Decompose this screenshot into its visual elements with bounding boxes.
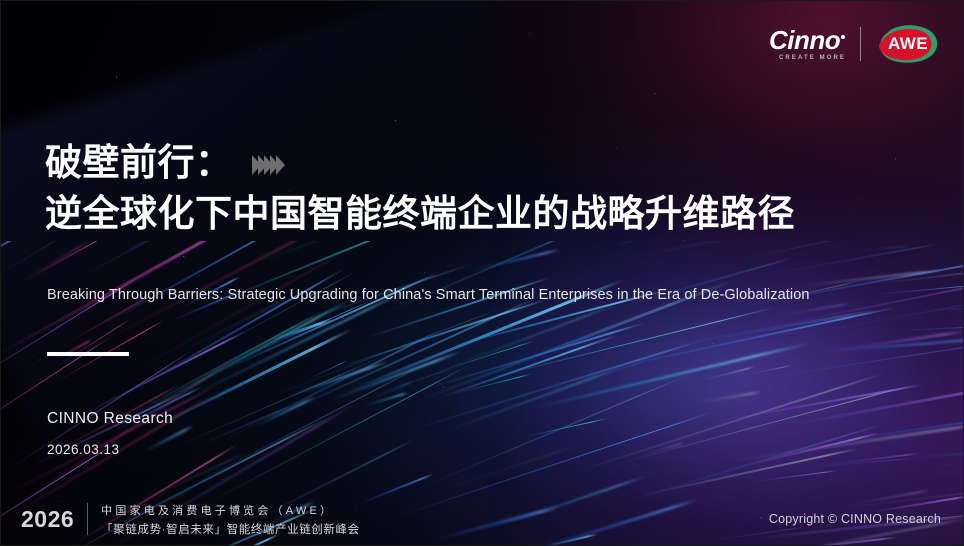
footer-event-line-1: 中国家电及消费电子博览会（AWE） (101, 502, 360, 518)
presentation-slide: Cinno CREATE MORE AWE 破壁前行： 逆全球化下中国智能终端企… (0, 0, 964, 546)
chevron-icon (276, 155, 285, 175)
awe-logo: AWE (875, 23, 941, 65)
footer-year: 2026 (21, 506, 74, 533)
chevron-arrows-icon (255, 155, 285, 175)
slide-footer: 2026 中国家电及消费电子博览会（AWE） 「聚链成势·智启未来」智能终端产业… (1, 493, 963, 545)
logo-bar: Cinno CREATE MORE AWE (769, 23, 941, 65)
footer-event-lines: 中国家电及消费电子博览会（AWE） 「聚链成势·智启未来」智能终端产业链创新峰会 (101, 502, 360, 537)
cinno-tagline: CREATE MORE (779, 55, 846, 61)
footer-event-block: 2026 中国家电及消费电子博览会（AWE） 「聚链成势·智启未来」智能终端产业… (21, 502, 360, 537)
title-block: 破壁前行： 逆全球化下中国智能终端企业的战略升维路径 (45, 137, 795, 239)
presentation-date: 2026.03.13 (47, 442, 120, 457)
title-line-2: 逆全球化下中国智能终端企业的战略升维路径 (45, 188, 795, 239)
title-line-1: 破壁前行： (45, 137, 233, 188)
cinno-wordmark: Cinno (769, 27, 845, 53)
footer-event-line-2: 「聚链成势·智启未来」智能终端产业链创新峰会 (101, 521, 360, 537)
cinno-dot-icon (841, 35, 845, 39)
copyright-notice: Copyright © CINNO Research (769, 512, 941, 526)
logo-separator (860, 27, 861, 61)
subtitle: Breaking Through Barriers: Strategic Upg… (47, 287, 810, 303)
author-name: CINNO Research (47, 410, 173, 428)
slide-content: 破壁前行： 逆全球化下中国智能终端企业的战略升维路径 Breaking Thro… (1, 1, 963, 545)
footer-divider (87, 503, 88, 535)
cinno-wordmark-text: Cinno (769, 25, 840, 55)
title-rule-divider (47, 352, 129, 356)
title-row-1: 破壁前行： (45, 137, 795, 188)
cinno-logo: Cinno CREATE MORE (769, 27, 846, 61)
awe-label: AWE (875, 23, 941, 65)
